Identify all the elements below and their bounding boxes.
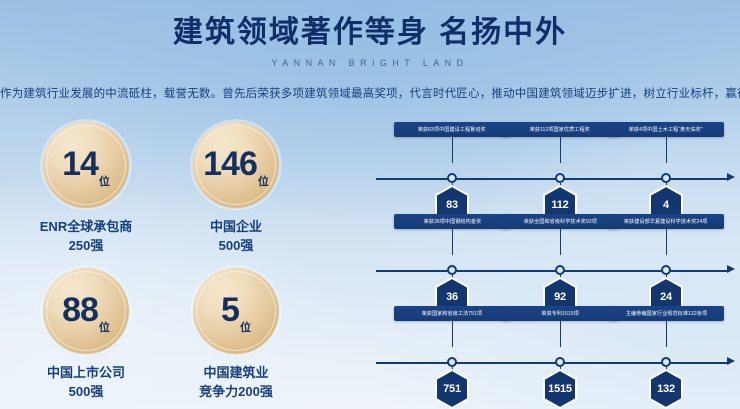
- timeline-row: 荣获83项中国建设工程鲁班奖 83 荣获112项国家优质工程奖 112: [372, 122, 734, 214]
- stat-label-line2: 500强: [6, 382, 166, 401]
- arrow-right-icon: [727, 173, 735, 181]
- stat-card: 146 位 中国企业 500强: [156, 122, 316, 255]
- node-stem: [560, 137, 561, 163]
- stat-label: 中国建筑业 竞争力200强: [156, 363, 316, 401]
- award-caption: 荣获112项国家优质工程奖: [530, 127, 590, 133]
- node-dot-icon: [447, 173, 457, 183]
- timeline-node[interactable]: 主编参编国家行业规范标准132余项 132: [608, 306, 724, 321]
- award-count: 751: [443, 383, 461, 395]
- award-caption-badge: 荣获83项中国建设工程鲁班奖: [394, 122, 510, 137]
- award-count-shield: 1515: [542, 369, 578, 409]
- stat-label-line2: 竞争力200强: [156, 382, 316, 401]
- award-count: 24: [660, 291, 672, 303]
- stat-unit: 位: [258, 173, 269, 189]
- stat-unit: 位: [99, 319, 110, 335]
- award-caption: 荣获专利1515项: [541, 311, 579, 317]
- stat-label-line1: ENR全球承包商: [6, 217, 166, 236]
- stat-label-line2: 250强: [6, 236, 166, 255]
- timeline-node[interactable]: 荣获112项国家优质工程奖 112: [502, 122, 618, 137]
- award-count: 4: [663, 199, 669, 211]
- award-caption-badge: 荣获36项中国钢结构金奖: [394, 214, 510, 229]
- node-dot-icon: [447, 357, 457, 367]
- award-caption-badge: 荣获112项国家优质工程奖: [502, 122, 618, 137]
- award-count: 92: [554, 291, 566, 303]
- timeline-node[interactable]: 荣获36项中国钢结构金奖 36: [394, 214, 510, 229]
- award-caption: 荣获建设部华夏建设科学技术奖24项: [624, 219, 708, 225]
- award-count-shield: 132: [648, 369, 684, 409]
- stat-coin: 146 位: [193, 122, 279, 208]
- award-count: 1515: [548, 383, 572, 395]
- node-dot-icon: [661, 357, 671, 367]
- award-count: 36: [446, 291, 458, 303]
- node-dot-icon: [447, 265, 457, 275]
- node-dot-icon: [661, 265, 671, 275]
- award-caption: 主编参编国家行业规范标准132余项: [625, 311, 706, 317]
- timeline-axis: [376, 270, 728, 272]
- timeline-node[interactable]: 荣获国家和省级工法751项 751: [394, 306, 510, 321]
- award-caption-badge: 荣获建设部华夏建设科学技术奖24项: [608, 214, 724, 229]
- award-caption: 荣获国家和省级工法751项: [422, 311, 483, 317]
- stat-card: 88 位 中国上市公司 500强: [6, 268, 166, 401]
- node-stem: [666, 229, 667, 255]
- node-dot-icon: [555, 265, 565, 275]
- award-count-shield: 751: [434, 369, 470, 409]
- page-header: 建筑领域著作等身 名扬中外 YANNAN BRIGHT LAND: [0, 14, 740, 69]
- stat-number: 5: [221, 293, 239, 327]
- node-stem: [452, 229, 453, 255]
- stat-label-line2: 500强: [156, 236, 316, 255]
- timeline-row: 荣获36项中国钢结构金奖 36 荣获全国和省级科学技术奖92项 92: [372, 214, 734, 306]
- award-caption-badge: 荣获4项中国土木工程“詹天佑奖”: [608, 122, 724, 137]
- stat-number: 88: [62, 293, 98, 327]
- award-caption-badge: 荣获全国和省级科学技术奖92项: [502, 214, 618, 229]
- award-count: 132: [657, 383, 675, 395]
- stat-coin: 5 位: [193, 268, 279, 354]
- stat-label-line1: 中国建筑业: [156, 363, 316, 382]
- award-caption: 荣获4项中国土木工程“詹天佑奖”: [629, 127, 703, 133]
- stats-group: 14 位 ENR全球承包商 250强 146 位 中国企业 500强 88: [6, 122, 336, 400]
- award-caption: 荣获83项中国建设工程鲁班奖: [418, 127, 486, 133]
- stat-coin: 88 位: [43, 268, 129, 354]
- node-dot-icon: [555, 173, 565, 183]
- arrow-right-icon: [727, 265, 735, 273]
- stat-label: 中国上市公司 500强: [6, 363, 166, 401]
- timeline-node[interactable]: 荣获83项中国建设工程鲁班奖 83: [394, 122, 510, 137]
- stat-card: 14 位 ENR全球承包商 250强: [6, 122, 166, 255]
- stat-unit: 位: [240, 319, 251, 335]
- node-stem: [560, 229, 561, 255]
- node-dot-icon: [555, 357, 565, 367]
- stat-card: 5 位 中国建筑业 竞争力200强: [156, 268, 316, 401]
- stat-unit: 位: [99, 173, 110, 189]
- node-stem: [560, 321, 561, 347]
- stat-coin: 14 位: [43, 122, 129, 208]
- node-dot-icon: [661, 173, 671, 183]
- stat-number: 146: [203, 147, 257, 181]
- timeline-axis: [376, 362, 728, 364]
- award-caption-badge: 主编参编国家行业规范标准132余项: [608, 306, 724, 321]
- arrow-right-icon: [727, 357, 735, 365]
- page-title: 建筑领域著作等身 名扬中外: [0, 14, 740, 52]
- timeline-node[interactable]: 荣获全国和省级科学技术奖92项 92: [502, 214, 618, 229]
- promo-banner: 建筑领域著作等身 名扬中外 YANNAN BRIGHT LAND 作为建筑行业发…: [0, 0, 740, 409]
- stat-number: 14: [62, 147, 98, 181]
- page-subtitle: YANNAN BRIGHT LAND: [0, 58, 740, 69]
- timeline-node[interactable]: 荣获建设部华夏建设科学技术奖24项 24: [608, 214, 724, 229]
- award-count: 112: [551, 199, 568, 211]
- award-caption: 荣获全国和省级科学技术奖92项: [523, 219, 596, 225]
- award-caption-badge: 荣获国家和省级工法751项: [394, 306, 510, 321]
- award-caption: 荣获36项中国钢结构金奖: [423, 219, 481, 225]
- timeline-axis: [376, 178, 728, 180]
- node-stem: [452, 321, 453, 347]
- timeline-node[interactable]: 荣获4项中国土木工程“詹天佑奖” 4: [608, 122, 724, 137]
- stat-label: 中国企业 500强: [156, 217, 316, 255]
- timeline-row: 荣获国家和省级工法751项 751 荣获专利1515项 1515: [372, 306, 734, 398]
- stat-label-line1: 中国上市公司: [6, 363, 166, 382]
- node-stem: [452, 137, 453, 163]
- stat-label-line1: 中国企业: [156, 217, 316, 236]
- node-stem: [666, 321, 667, 347]
- award-caption-badge: 荣获专利1515项: [502, 306, 618, 321]
- timeline-node[interactable]: 荣获专利1515项 1515: [502, 306, 618, 321]
- stat-label: ENR全球承包商 250强: [6, 217, 166, 255]
- node-stem: [666, 137, 667, 163]
- award-count: 83: [446, 199, 458, 211]
- awards-timeline: 荣获83项中国建设工程鲁班奖 83 荣获112项国家优质工程奖 112: [372, 122, 734, 404]
- lead-paragraph: 作为建筑行业发展的中流砥柱，载誉无数。曾先后荣获多项建筑领域最高奖项，代言时代匠…: [0, 86, 740, 102]
